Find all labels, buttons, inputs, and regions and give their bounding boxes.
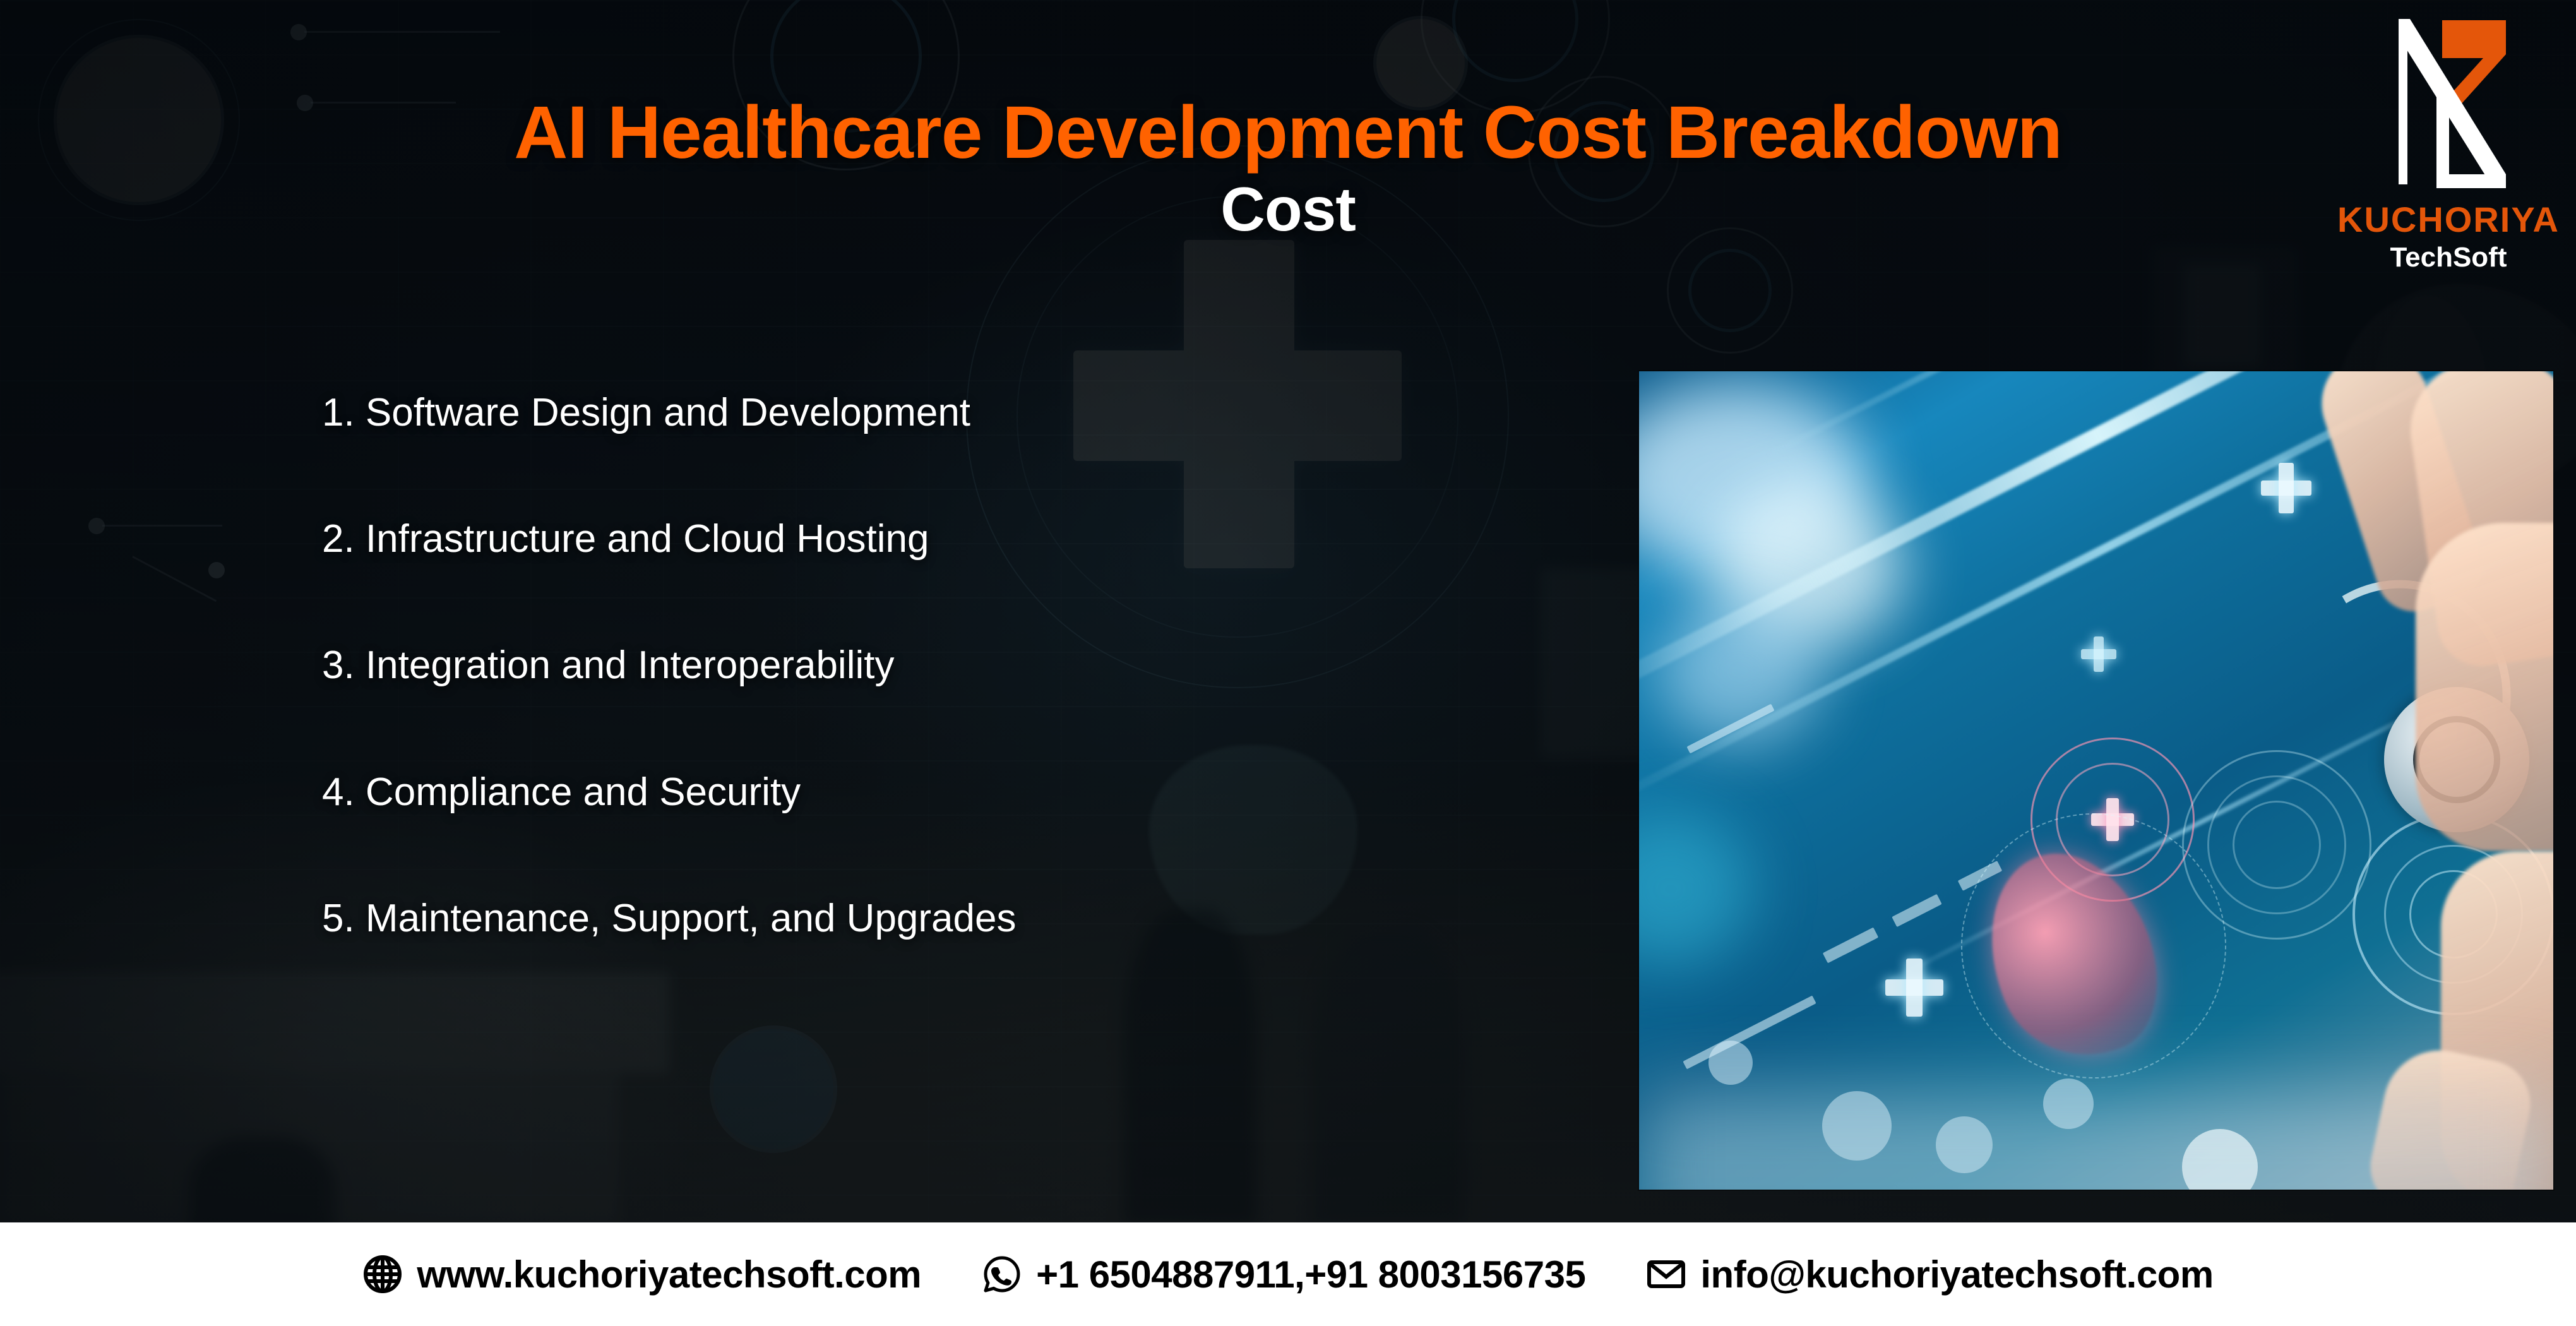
ai-healthcare-hologram-photo <box>1639 371 2553 1190</box>
envelope-icon <box>1646 1254 1686 1294</box>
hand-palm <box>2416 523 2553 851</box>
company-logo[interactable]: KUCHORIYA TechSoft <box>2335 9 2562 272</box>
bokeh-glow <box>1639 813 1753 965</box>
page-title: AI Healthcare Development Cost Breakdown <box>0 95 2576 170</box>
website-url: www.kuchoriyatechsoft.com <box>417 1253 921 1296</box>
hud-bar <box>1892 894 1941 927</box>
whatsapp-icon <box>982 1254 1022 1294</box>
list-item: 5. Maintenance, Support, and Upgrades <box>322 897 1522 940</box>
list-item: 1. Software Design and Development <box>322 391 1522 434</box>
cost-breakdown-list: 1. Software Design and Development 2. In… <box>322 391 1522 940</box>
globe-icon <box>362 1254 403 1294</box>
logo-company-name: KUCHORIYA <box>2335 202 2562 237</box>
infographic-banner: AI Healthcare Development Cost Breakdown… <box>0 0 2576 1326</box>
list-item: 4. Compliance and Security <box>322 771 1522 814</box>
hud-bar <box>1823 928 1878 964</box>
page-subtitle: Cost <box>0 178 2576 241</box>
list-item: 2. Infrastructure and Cloud Hosting <box>322 518 1522 561</box>
scan-arc <box>2233 801 2321 889</box>
medical-cross-icon <box>2081 636 2116 672</box>
cell-dot <box>1708 1041 1753 1085</box>
medical-cross-icon <box>1885 959 1943 1017</box>
logo-company-suffix: TechSoft <box>2335 244 2562 272</box>
email-address: info@kuchoriyatechsoft.com <box>1700 1253 2213 1296</box>
bottom-haze <box>1639 1091 2553 1190</box>
footer-email[interactable]: info@kuchoriyatechsoft.com <box>1646 1253 2213 1296</box>
kuchoriya-k-monogram-icon <box>2382 9 2515 198</box>
footer-phone[interactable]: +1 6504887911,+91 8003156735 <box>982 1253 1585 1296</box>
phone-numbers: +1 6504887911,+91 8003156735 <box>1036 1253 1585 1296</box>
footer-website[interactable]: www.kuchoriyatechsoft.com <box>362 1253 921 1296</box>
medical-cross-icon <box>2261 463 2311 513</box>
contact-footer: www.kuchoriyatechsoft.com +1 6504887911,… <box>0 1222 2576 1326</box>
list-item: 3. Integration and Interoperability <box>322 644 1522 687</box>
